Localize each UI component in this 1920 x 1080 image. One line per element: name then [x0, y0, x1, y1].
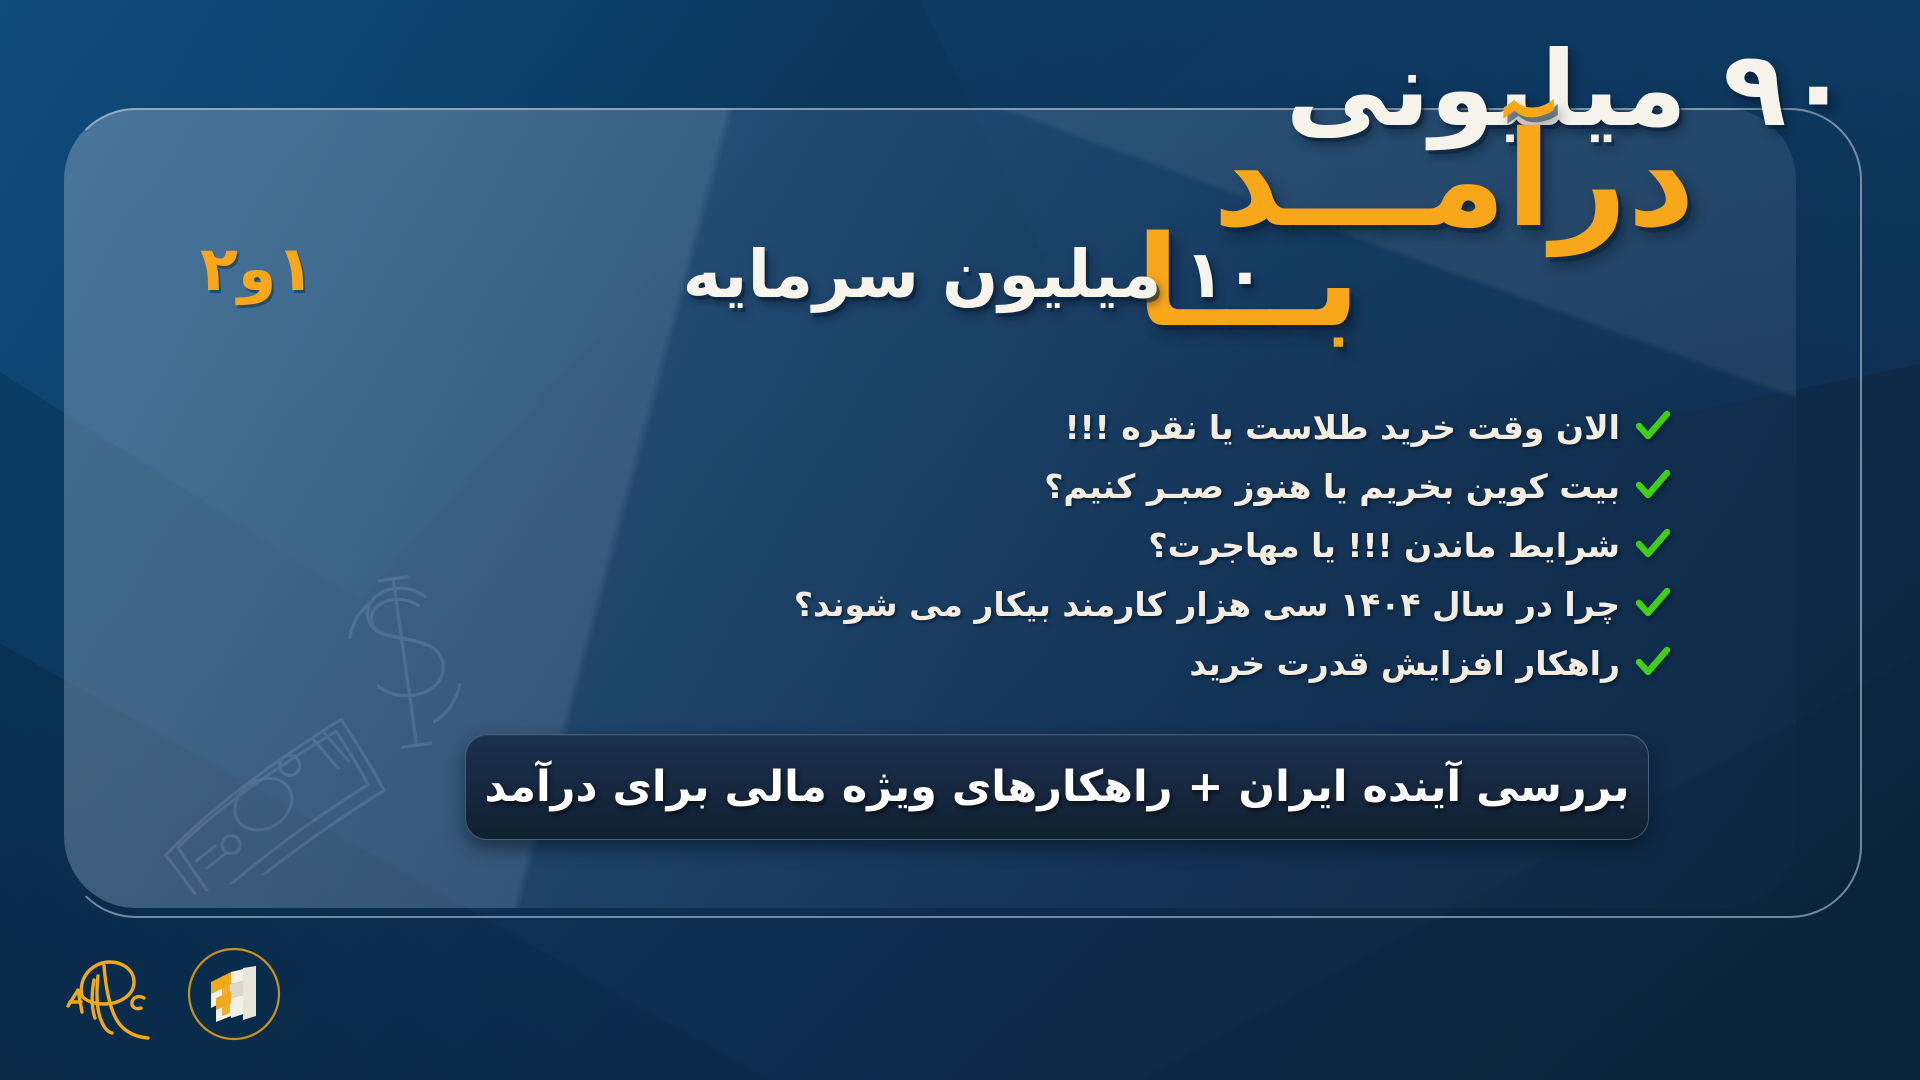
headline-capital: ۱۰ میلیون سرمایه [683, 236, 1265, 313]
list-item-label: چرا در سال ۱۴۰۴ سی هزار کارمند بیکار می … [794, 585, 1620, 625]
check-mark-icon [1636, 645, 1670, 679]
footer-logo-group [48, 946, 282, 1046]
ten-cube-circle-logo [186, 946, 282, 1046]
feature-bullet-list: الان وقت خرید طلاست یا نقره !!! بیت کوین… [270, 402, 1670, 697]
check-mark-icon [1636, 586, 1670, 620]
cta-banner-label: بررسی آینده ایران + راهکارهای ویژه مالی … [484, 762, 1629, 812]
list-item: چرا در سال ۱۴۰۴ سی هزار کارمند بیکار می … [270, 579, 1670, 631]
list-item-label: الان وقت خرید طلاست یا نقره !!! [1065, 408, 1620, 448]
cta-banner: بررسی آینده ایران + راهکارهای ویژه مالی … [465, 734, 1649, 840]
promo-poster: ۹۰ میلیونی درآمـــد بـــا ۱۰ میلیون سرما… [0, 0, 1920, 1080]
list-item-label: بیت کوین بخریم یا هنوز صبـر کنیم؟ [1044, 467, 1620, 507]
check-mark-icon [1636, 409, 1670, 443]
list-item: الان وقت خرید طلاست یا نقره !!! [270, 402, 1670, 454]
arc-signature-logo [48, 946, 160, 1046]
check-mark-icon [1636, 468, 1670, 502]
list-item: راهکار افزایش قدرت خرید [270, 638, 1670, 690]
list-item-label: شرایط ماندن !!! یا مهاجرت؟ [1148, 526, 1620, 566]
episode-number-badge: ۱و۲ [200, 232, 314, 305]
check-mark-icon [1636, 527, 1670, 561]
list-item: بیت کوین بخریم یا هنوز صبـر کنیم؟ [270, 461, 1670, 513]
list-item-label: راهکار افزایش قدرت خرید [1189, 644, 1620, 684]
list-item: شرایط ماندن !!! یا مهاجرت؟ [270, 520, 1670, 572]
